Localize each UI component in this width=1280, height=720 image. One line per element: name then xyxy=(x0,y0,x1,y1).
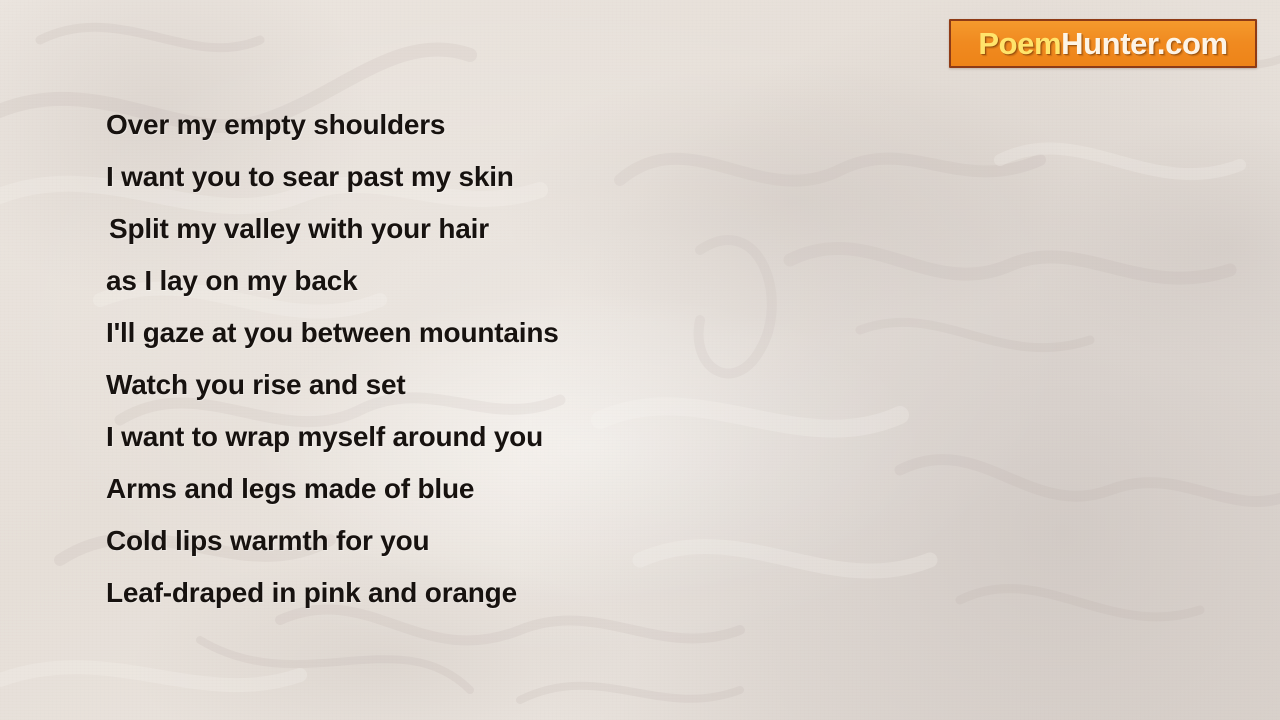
poemhunter-logo[interactable]: PoemHunter.com xyxy=(949,19,1257,68)
poem-line: Leaf-draped in pink and orange xyxy=(106,567,866,619)
poem-line: I'll gaze at you between mountains xyxy=(106,307,866,359)
poem-line: Arms and legs made of blue xyxy=(106,463,866,515)
logo-text-poem: Poem xyxy=(978,26,1061,61)
poem-line: I want to wrap myself around you xyxy=(106,411,866,463)
poem-line: Split my valley with your hair xyxy=(106,203,866,255)
poem-line: Watch you rise and set xyxy=(106,359,866,411)
poem-line: Cold lips warmth for you xyxy=(106,515,866,567)
poem-body: Over my empty shoulders I want you to se… xyxy=(106,99,866,619)
poem-slide: PoemHunter.com Over my empty shoulders I… xyxy=(0,0,1280,720)
logo-text-hunter: Hunter.com xyxy=(1061,26,1228,61)
poem-line: I want you to sear past my skin xyxy=(106,151,866,203)
poem-line: as I lay on my back xyxy=(106,255,866,307)
poem-line: Over my empty shoulders xyxy=(106,99,866,151)
logo-wordmark: PoemHunter.com xyxy=(978,28,1227,59)
